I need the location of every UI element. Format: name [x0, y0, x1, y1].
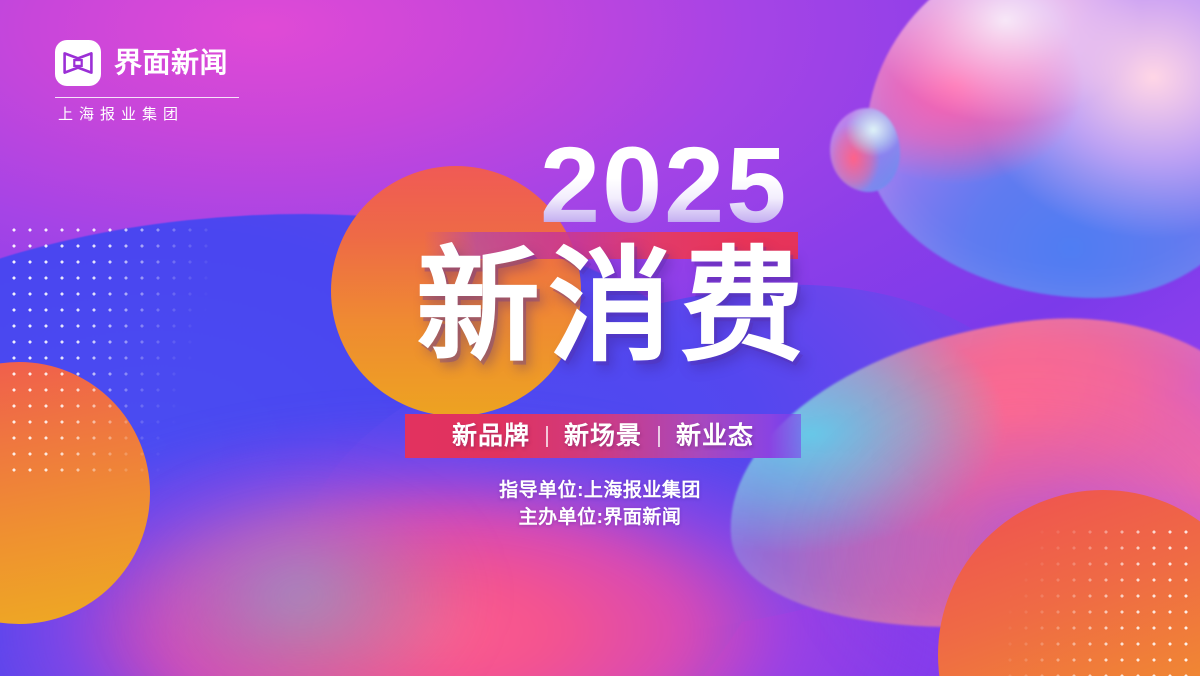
tagline-item-1: 新品牌	[452, 424, 530, 449]
credit-guidance-unit: 指导单位:上海报业集团	[0, 478, 1200, 505]
tagline-bar: 新品牌 新场景 新业态	[405, 414, 801, 458]
tagline-separator-1	[546, 426, 548, 447]
credit-organizer-unit: 主办单位:界面新闻	[0, 505, 1200, 532]
tagline-item-3: 新业态	[676, 424, 754, 449]
hero-title: 新消费	[416, 236, 812, 380]
poster-canvas: 界面新闻 上海报业集团 2025 新消费 新品牌 新场景 新业态 指导单位:上海…	[0, 0, 1200, 676]
tagline-separator-2	[658, 426, 660, 447]
hero-block: 2025 新消费 新品牌 新场景 新业态 指导单位:上海报业集团 主办单位:界面…	[0, 0, 1200, 676]
credits-block: 指导单位:上海报业集团 主办单位:界面新闻	[0, 478, 1200, 532]
hero-year: 2025	[540, 131, 788, 239]
tagline-item-2: 新场景	[564, 424, 642, 449]
